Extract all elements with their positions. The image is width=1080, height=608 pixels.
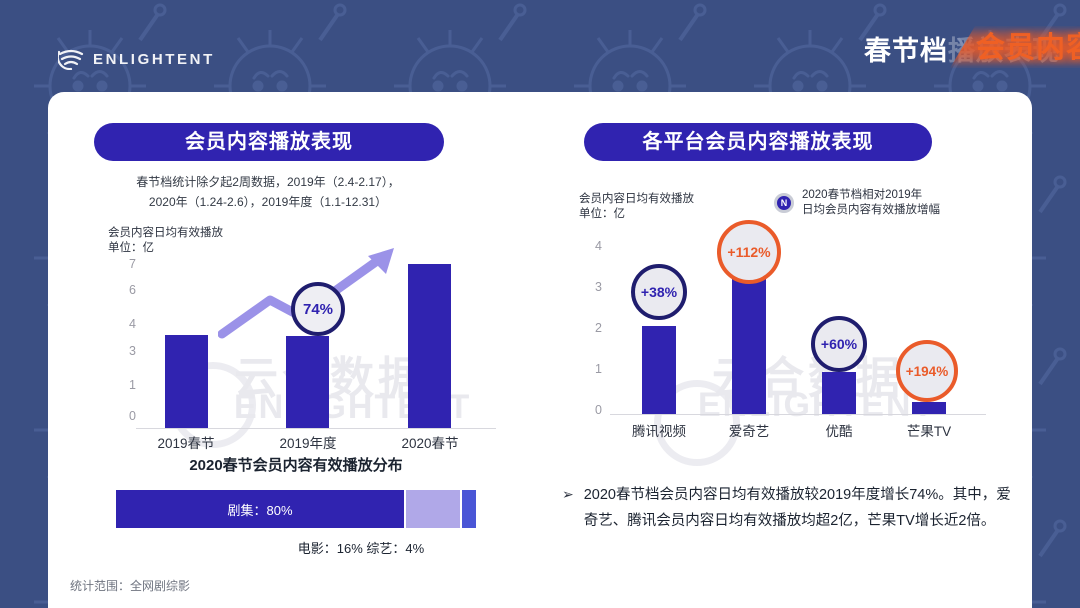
y-tick: 6 xyxy=(106,283,136,297)
growth-bubble-tencent: +38% xyxy=(631,264,687,320)
legend-text-line1: 2020春节档相对2019年 xyxy=(802,188,940,203)
bullet-arrow-icon: ➢ xyxy=(562,482,574,534)
chart-legend: N 2020春节档相对2019年 日均会员内容有效播放增幅 xyxy=(774,188,940,218)
left-section-title: 会员内容播放表现 xyxy=(94,123,444,161)
distribution-segment-variety xyxy=(462,490,476,528)
legend-text: 2020春节档相对2019年 日均会员内容有效播放增幅 xyxy=(802,188,940,218)
x-axis-line xyxy=(610,414,986,415)
left-subnote-line1: 春节档统计除夕起2周数据，2019年（2.4-2.17）， xyxy=(88,172,448,192)
growth-badge-icon: N xyxy=(774,193,794,213)
x-label: 芒果TV xyxy=(879,420,979,440)
y-tick: 1 xyxy=(580,362,602,376)
y-tick: 7 xyxy=(106,257,136,271)
enlightent-logo-icon xyxy=(58,48,84,70)
bar-youku xyxy=(822,372,856,414)
bullet-text: 2020春节档会员内容日均有效播放较2019年度增长74%。其中，爱奇艺、腾讯会… xyxy=(584,482,1014,534)
distribution-segment-drama: 剧集：80% xyxy=(116,490,404,528)
x-label: 腾讯视频 xyxy=(609,420,709,440)
chart-platform-member-playback: 4 3 2 1 0 +38% +112% +60% +194% 腾讯视频 爱奇艺… xyxy=(580,240,990,415)
x-label: 爱奇艺 xyxy=(699,420,799,440)
x-label: 2020春节 xyxy=(380,432,480,452)
x-label: 2019年度 xyxy=(258,432,358,452)
right-axis-caption-line1: 会员内容日均有效播放 xyxy=(579,192,694,207)
growth-rate-bubble: 74% xyxy=(291,282,345,336)
y-tick: 4 xyxy=(580,239,602,253)
left-panel: 会员内容播放表现 春节档统计除夕起2周数据，2019年（2.4-2.17）， 2… xyxy=(48,92,544,608)
bar-2019-year xyxy=(286,336,329,428)
brand-wordmark: ENLIGHTENT xyxy=(93,51,215,68)
left-subnote: 春节档统计除夕起2周数据，2019年（2.4-2.17）， 2020年（1.24… xyxy=(88,172,448,212)
growth-bubble-mango: +194% xyxy=(896,340,958,402)
page-title-highlight: 会员内容 xyxy=(976,24,1080,66)
growth-bubble-iqiyi: +112% xyxy=(717,220,781,284)
left-axis-caption: 会员内容日均有效播放 单位：亿 xyxy=(108,226,223,256)
left-axis-caption-line1: 会员内容日均有效播放 xyxy=(108,226,223,241)
bar-2019-spring-festival xyxy=(165,335,208,428)
brand-logo: ENLIGHTENT xyxy=(58,48,215,70)
content-card: 云合数据 ENLIGHTENT 云合数据 ENLIGHTENT 会员内容播放表现… xyxy=(48,92,1032,608)
right-axis-caption: 会员内容日均有效播放 单位：亿 xyxy=(579,192,694,222)
bar-tencent-video xyxy=(642,326,676,414)
x-label: 2019春节 xyxy=(136,432,236,452)
right-panel: 各平台会员内容播放表现 会员内容日均有效播放 单位：亿 N 2020春节档相对2… xyxy=(544,92,1032,608)
x-label: 优酷 xyxy=(789,420,889,440)
bar-iqiyi xyxy=(732,275,766,414)
y-tick: 4 xyxy=(106,317,136,331)
page-title-prefix: 春节档 xyxy=(864,36,948,66)
left-axis-caption-line2: 单位：亿 xyxy=(108,241,223,256)
y-tick: 3 xyxy=(106,344,136,358)
y-tick: 0 xyxy=(580,403,602,417)
distribution-segment-movie xyxy=(406,490,460,528)
bar-2020-spring-festival xyxy=(408,264,451,428)
legend-text-line2: 日均会员内容有效播放增幅 xyxy=(802,203,940,218)
distribution-segment-label: 剧集：80% xyxy=(116,490,404,528)
left-subnote-line2: 2020年（1.24-2.6），2019年度（1.1-12.31） xyxy=(88,192,448,212)
bar-mango-tv xyxy=(912,402,946,414)
distribution-title: 2020春节会员内容有效播放分布 xyxy=(48,454,544,475)
y-tick: 1 xyxy=(106,378,136,392)
page-title: 春节档播放表现 会员内容 xyxy=(864,22,1060,74)
y-tick: 0 xyxy=(106,409,136,423)
y-tick: 3 xyxy=(580,280,602,294)
x-axis-line xyxy=(136,428,496,429)
right-axis-caption-line2: 单位：亿 xyxy=(579,207,694,222)
chart-playback-distribution: 剧集：80% xyxy=(116,490,476,528)
footer-note: 统计范围：全网剧综影 xyxy=(70,577,190,594)
summary-bullet: ➢ 2020春节档会员内容日均有效播放较2019年度增长74%。其中，爱奇艺、腾… xyxy=(562,482,1014,534)
right-section-title: 各平台会员内容播放表现 xyxy=(584,123,932,161)
distribution-sublabels: 电影：16% 综艺：4% xyxy=(48,538,544,557)
growth-bubble-youku: +60% xyxy=(811,316,867,372)
y-tick: 2 xyxy=(580,321,602,335)
